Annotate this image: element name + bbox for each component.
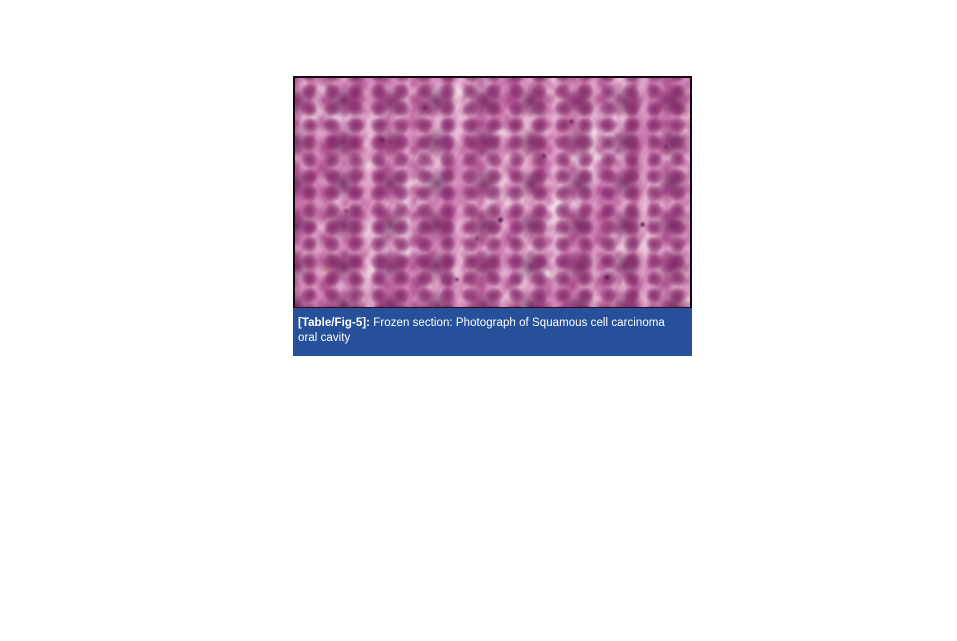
figure-caption-bar: [Table/Fig-5]: Frozen section: Photograp… [293, 308, 692, 356]
histology-micrograph-image [293, 76, 692, 308]
figure-block: [Table/Fig-5]: Frozen section: Photograp… [293, 76, 692, 356]
figure-caption-label: [Table/Fig-5]: [298, 317, 370, 329]
tissue-vignette-layer [295, 78, 690, 307]
